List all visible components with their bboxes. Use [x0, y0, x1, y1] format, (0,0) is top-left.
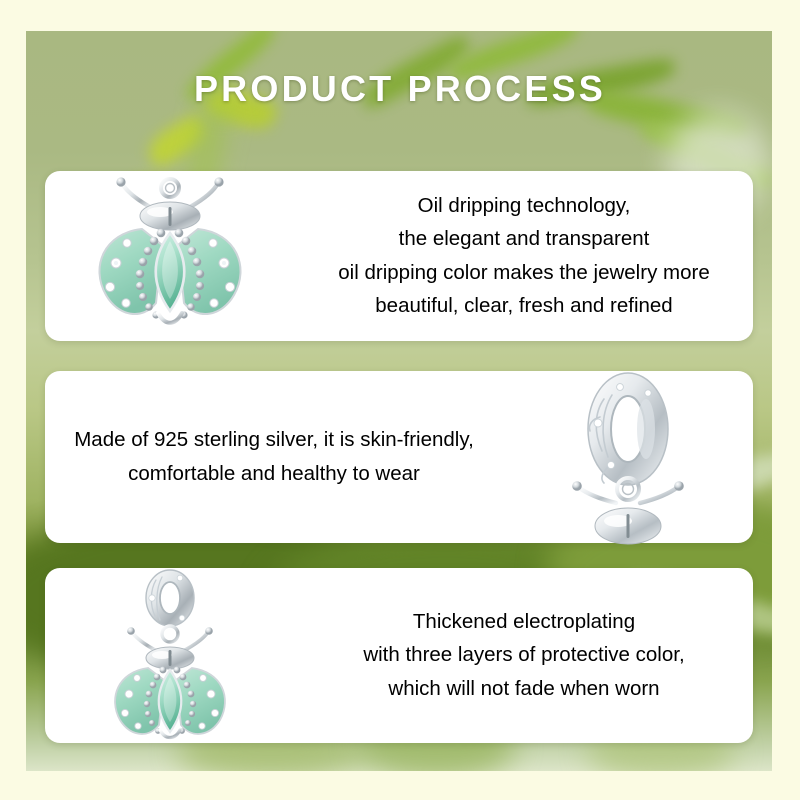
card-line: comfortable and healthy to wear — [45, 462, 503, 486]
card-line: Oil dripping technology, — [295, 194, 753, 218]
card-text-block: Thickened electroplating with three laye… — [295, 610, 753, 701]
info-card-oil-dripping: Oil dripping technology, the elegant and… — [45, 171, 753, 341]
card-text-block: Made of 925 sterling silver, it is skin-… — [45, 428, 503, 485]
info-card-sterling-silver: Made of 925 sterling silver, it is skin-… — [45, 371, 753, 543]
page-title: PRODUCT PROCESS — [0, 68, 800, 110]
background-photo: Oil dripping technology, the elegant and… — [26, 31, 772, 771]
card-line: with three layers of protective color, — [295, 643, 753, 667]
info-card-electroplating: Thickened electroplating with three laye… — [45, 568, 753, 743]
ladybug-charm-front-image — [45, 171, 295, 341]
ladybug-charm-back-image — [503, 371, 753, 543]
card-line: oil dripping color makes the jewelry mor… — [295, 261, 753, 285]
card-line: Thickened electroplating — [295, 610, 753, 634]
ladybug-dangle-charm-image — [45, 568, 295, 743]
card-line: the elegant and transparent — [295, 227, 753, 251]
card-line: Made of 925 sterling silver, it is skin-… — [45, 428, 503, 452]
card-line: beautiful, clear, fresh and refined — [295, 294, 753, 318]
card-text-block: Oil dripping technology, the elegant and… — [295, 194, 753, 318]
product-process-poster: Oil dripping technology, the elegant and… — [0, 0, 800, 800]
card-line: which will not fade when worn — [295, 677, 753, 701]
